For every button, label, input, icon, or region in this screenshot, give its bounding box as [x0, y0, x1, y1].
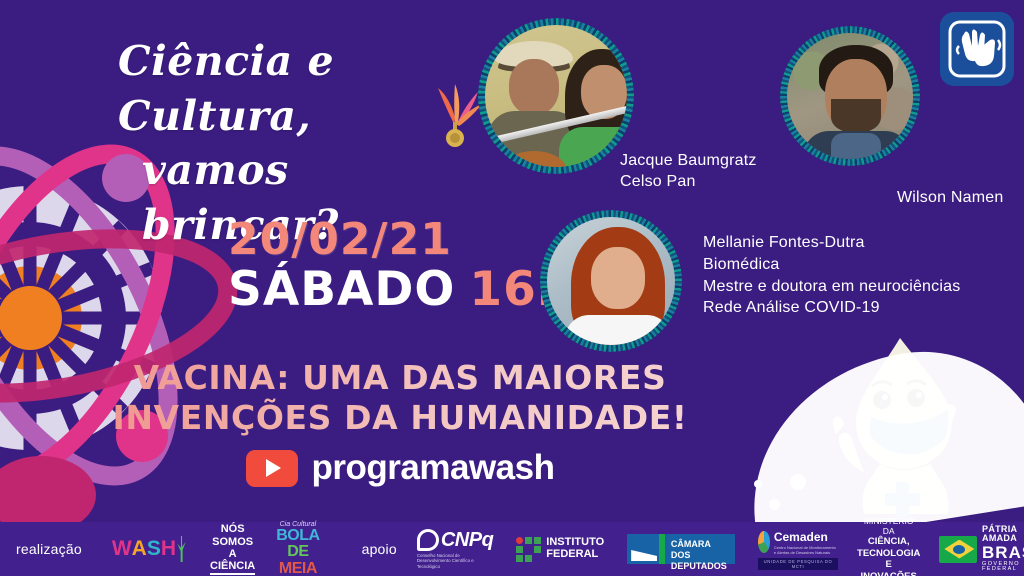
apoio-label: apoio [362, 541, 397, 557]
speaker-name-line: Mellanie Fontes-Dutra [703, 232, 960, 254]
cnpq-subtitle: Conselho Nacional de Desenvolvimento Cie… [417, 553, 493, 570]
logo-ministerio: MINISTÉRIO DA CIÊNCIA, TECNOLOGIA E INOV… [857, 516, 920, 576]
bola-line: DE [287, 543, 308, 560]
wash-letter: H [161, 537, 175, 561]
poster-headline: VACINA: UMA DAS MAIORES INVENÇÕES DA HUM… [0, 358, 800, 439]
youtube-handle[interactable]: programawash [312, 448, 555, 488]
wash-letter: S [147, 537, 160, 561]
speaker-name-line: Jacque Baumgratz [620, 150, 757, 171]
if-grid-icon [516, 537, 541, 562]
speaker-name-wilson: Wilson Namen [897, 187, 1003, 208]
ciencia-line: A CIÊNCIA [210, 548, 255, 575]
event-poster: Ciência e Cultura, vamos brincar? 20/02/… [0, 0, 1024, 576]
camara-line: DEPUTADOS [671, 561, 729, 572]
cemaden-subtitle: Centro Nacional de Monitoramento e Alert… [774, 546, 838, 556]
speaker-name-jacque-celso: Jacque Baumgratz Celso Pan [620, 150, 757, 192]
headline-line-1: VACINA: UMA DAS MAIORES [134, 358, 667, 397]
title-line-1: Ciência e Cultura, [118, 37, 334, 140]
swash-dot [769, 499, 780, 510]
mcti-line: E INOVAÇÕES [857, 559, 920, 576]
logo-instituto-federal: INSTITUTO FEDERAL [516, 537, 604, 562]
cemaden-name: Cemaden [774, 530, 828, 544]
logo-camara-dos-deputados: CÂMARA DOS DEPUTADOS [627, 534, 735, 564]
headline-line-2: INVENÇÕES DA HUMANIDADE! [0, 398, 800, 438]
speaker-name-line: Wilson Namen [897, 187, 1003, 208]
cnpq-name: CNPq [441, 529, 493, 552]
event-date: 20/02/21 [228, 218, 577, 262]
wash-letter: W [112, 537, 131, 561]
logo-cnpq: CNPq Conselho Nacional de Desenvolviment… [417, 529, 493, 570]
cnpq-mark-icon [417, 529, 439, 551]
speaker-name-mellanie: Mellanie Fontes-Dutra Biomédica Mestre e… [703, 232, 960, 319]
realizacao-label: realização [16, 541, 82, 557]
logo-bola-de-meia: Cia Cultural BOLA DE MEIA [276, 521, 319, 576]
brasil-line: PÁTRIA AMADA [982, 525, 1024, 544]
mcti-line: MINISTÉRIO DA [857, 516, 920, 536]
youtube-channel[interactable]: programawash [0, 448, 800, 488]
logo-wash: W A S H [112, 536, 187, 562]
event-datetime: 20/02/21 SÁBADO16H [228, 218, 577, 313]
speaker-photo-mellanie [540, 210, 682, 352]
camara-flag-icon [627, 534, 659, 564]
brazil-flag-icon [939, 536, 977, 563]
logo-cemaden: Cemaden Centro Nacional de Monitoramento… [758, 528, 838, 570]
brasil-line: GOVERNO FEDERAL [982, 562, 1024, 574]
bola-line: BOLA [276, 527, 319, 544]
speaker-affiliation-line: Rede Análise COVID-19 [703, 297, 960, 319]
camara-line: CÂMARA DOS [671, 539, 729, 561]
ciencia-line: NÓS [210, 523, 255, 535]
shuttlecock-icon [424, 78, 486, 150]
if-line: FEDERAL [546, 549, 604, 561]
speaker-photo-wilson [780, 26, 920, 166]
sponsor-footer: realização W A S H NÓS SOMOS A CIÊNCIA C… [0, 522, 1024, 576]
ciencia-line: SOMOS [210, 536, 255, 548]
brasil-line: BRASIL [982, 544, 1024, 562]
speaker-name-line: Celso Pan [620, 171, 757, 192]
swash-dot [790, 474, 806, 490]
speaker-photo-jacque-celso [478, 18, 634, 174]
logo-nos-somos-a-ciencia: NÓS SOMOS A CIÊNCIA [210, 523, 255, 574]
mcti-line: CIÊNCIA, TECNOLOGIA [857, 536, 920, 559]
bola-line: MEIA [279, 560, 317, 576]
cemaden-eye-icon [758, 531, 770, 553]
speaker-credential-line: Mestre e doutora em neurociências [703, 276, 960, 298]
logo-pátria-amada-brasil: PÁTRIA AMADA BRASIL GOVERNO FEDERAL [939, 525, 1024, 573]
event-weekday: SÁBADO [228, 262, 455, 317]
youtube-play-icon[interactable] [246, 450, 298, 487]
speaker-role-line: Biomédica [703, 254, 960, 276]
cemaden-bar-text: UNIDADE DE PESQUISA DO MCTI [758, 558, 838, 570]
wash-letter: A [132, 537, 146, 561]
swash-dot [754, 480, 762, 488]
tree-icon [176, 536, 187, 562]
sign-language-icon[interactable] [940, 12, 1014, 86]
